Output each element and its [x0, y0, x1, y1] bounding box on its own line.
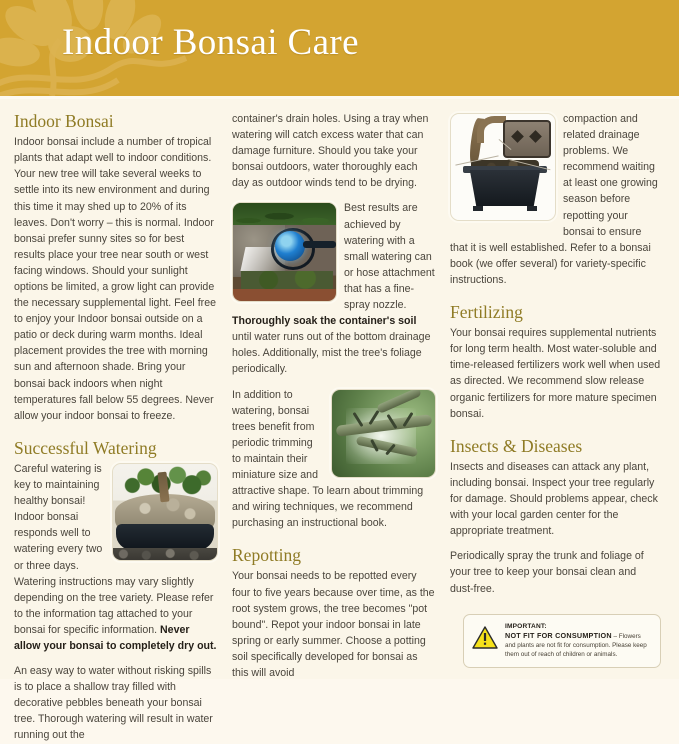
- paragraph-indoor-bonsai: Indoor bonsai include a number of tropic…: [14, 134, 218, 424]
- paragraph-watering-2: An easy way to water without risking spi…: [14, 663, 218, 743]
- warning-line-1: IMPORTANT:: [505, 622, 653, 631]
- content-columns: Indoor Bonsai Indoor bonsai include a nu…: [0, 99, 679, 679]
- paragraph-insects-2: Periodically spray the trunk and foliage…: [450, 548, 661, 596]
- best-results-bold: Thoroughly soak the container's soil: [232, 315, 416, 327]
- column-1: Indoor Bonsai Indoor bonsai include a nu…: [14, 111, 218, 679]
- heading-indoor-bonsai: Indoor Bonsai: [14, 111, 218, 131]
- paragraph-fertilizing: Your bonsai requires supplemental nutrie…: [450, 325, 661, 422]
- bonsai-care-flyer: Indoor Bonsai Care Indoor Bonsai Indoor …: [0, 0, 679, 679]
- heading-successful-watering: Successful Watering: [14, 438, 218, 458]
- paragraph-insects-1: Insects and diseases can attack any plan…: [450, 459, 661, 539]
- best-results-plain-b: until water runs out of the bottom drain…: [232, 331, 430, 375]
- bonsai-pot-drainage-diagram: [450, 113, 556, 221]
- warning-line-2: NOT FIT FOR CONSUMPTION: [505, 631, 612, 640]
- heading-repotting: Repotting: [232, 545, 436, 565]
- page-header: Indoor Bonsai Care: [0, 0, 679, 96]
- paragraph-repotting: Your bonsai needs to be repotted every f…: [232, 568, 436, 681]
- heading-fertilizing: Fertilizing: [450, 302, 661, 322]
- warning-text: IMPORTANT: NOT FIT FOR CONSUMPTION – Flo…: [505, 622, 653, 660]
- column-3: compaction and related drainage problems…: [450, 111, 661, 679]
- blue-spray-nozzle-photo: [232, 202, 337, 302]
- warning-triangle-icon: [472, 626, 498, 649]
- wired-bonsai-branch-photo: [331, 389, 436, 478]
- column-2: container's drain holes. Using a tray wh…: [232, 111, 436, 679]
- bonsai-in-dark-pot-photo: [112, 463, 218, 561]
- heading-insects-diseases: Insects & Diseases: [450, 436, 661, 456]
- page-title: Indoor Bonsai Care: [62, 21, 359, 64]
- best-results-plain-a: Best results are achieved by watering wi…: [344, 202, 435, 311]
- warning-box: IMPORTANT: NOT FIT FOR CONSUMPTION – Flo…: [463, 614, 661, 668]
- paragraph-drain-holes: container's drain holes. Using a tray wh…: [232, 111, 436, 191]
